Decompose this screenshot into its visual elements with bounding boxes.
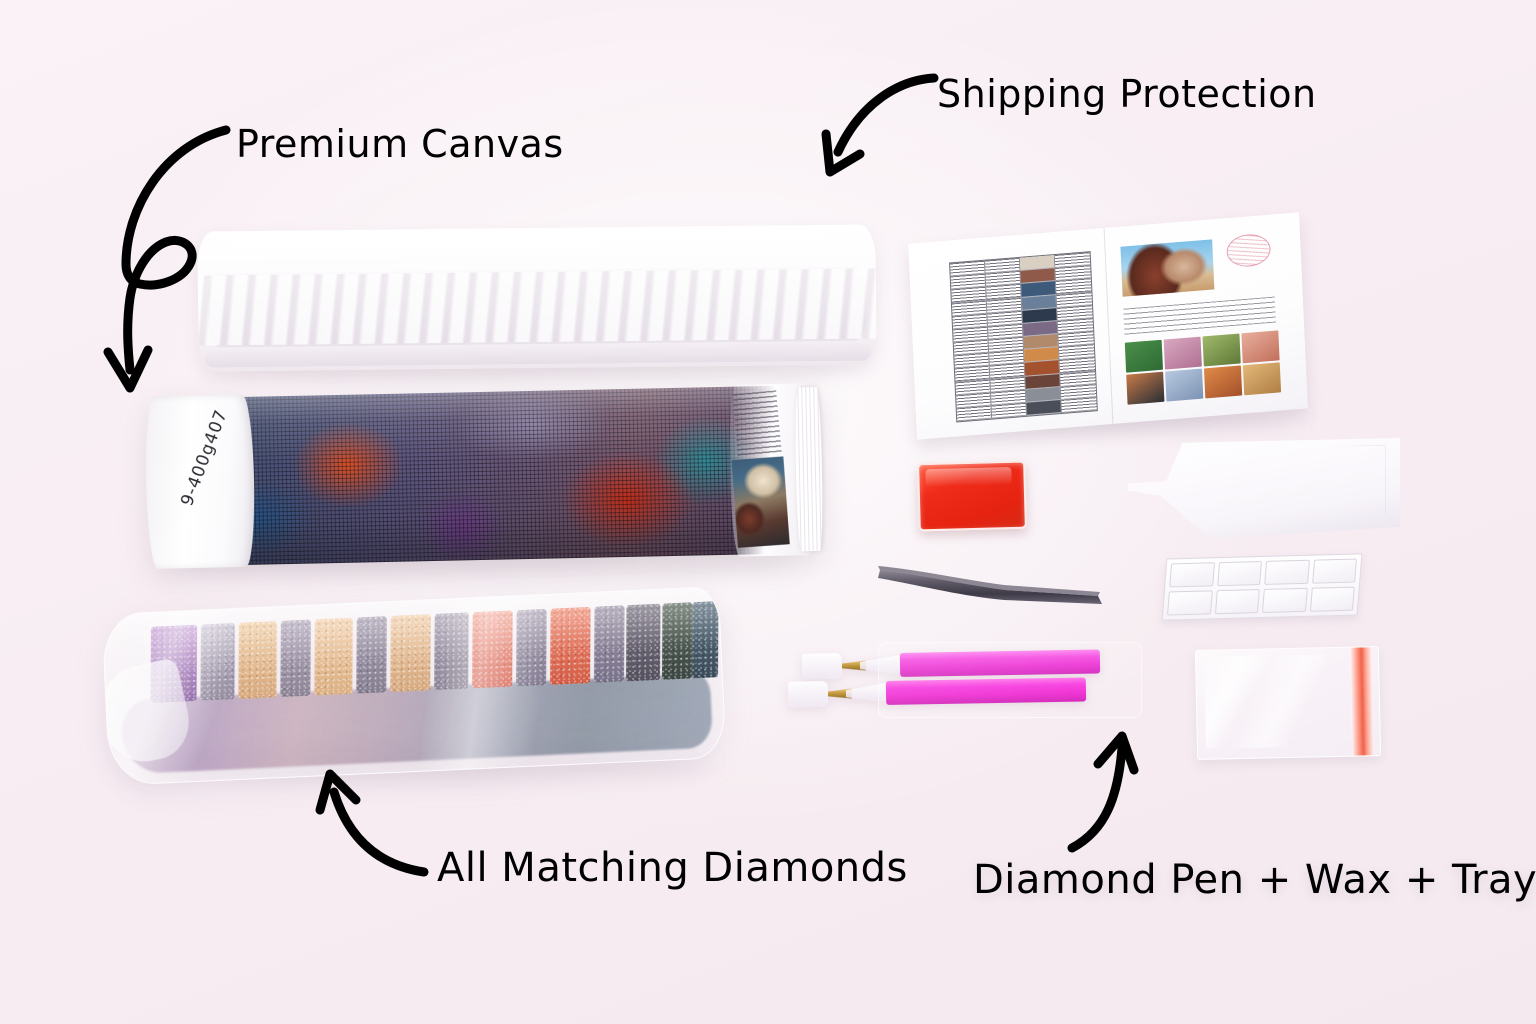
diamond-packet bbox=[516, 609, 547, 686]
premium-canvas-label: Premium Canvas bbox=[236, 122, 564, 166]
diamond-pens bbox=[826, 648, 1132, 726]
diamond-packet bbox=[692, 601, 719, 678]
ziplock-seal-strip bbox=[1350, 647, 1374, 755]
foam-protective-sleeve bbox=[197, 224, 876, 371]
ziplock-crease bbox=[1204, 654, 1326, 748]
glue-cell bbox=[1214, 589, 1259, 614]
sheet-hero-photo bbox=[1120, 239, 1214, 296]
canvas-roll-label: 9-400g407 bbox=[144, 395, 256, 569]
foam-sleeve-ripples bbox=[198, 268, 877, 345]
sheet-stamp-icon bbox=[1226, 233, 1271, 269]
sheet-fold-line bbox=[1104, 228, 1114, 424]
pen-cap-end bbox=[788, 681, 828, 708]
glue-cell bbox=[1264, 560, 1309, 585]
diamond-packet bbox=[200, 623, 234, 701]
sheet-thumbnail bbox=[1204, 365, 1242, 398]
scene-canvas: 9-400g407 bbox=[0, 0, 1536, 1024]
diamond-packet bbox=[550, 607, 590, 685]
diamond-packet bbox=[594, 605, 625, 682]
instruction-sheet bbox=[908, 212, 1308, 439]
diamond-packet bbox=[390, 614, 430, 692]
diamond-drill-bag bbox=[101, 586, 726, 786]
sheet-thumbnail bbox=[1165, 369, 1203, 402]
diamond-packet bbox=[472, 610, 512, 688]
all-matching-diamonds-label: All Matching Diamonds bbox=[437, 845, 908, 891]
pen-cap-end bbox=[802, 653, 842, 680]
sheet-thumbnail bbox=[1243, 362, 1281, 395]
sheet-thumbnail bbox=[1203, 333, 1241, 366]
diamond-tray bbox=[1128, 438, 1400, 558]
diamond-packet bbox=[626, 604, 660, 682]
rolled-canvas: 9-400g407 bbox=[148, 385, 813, 567]
diamond-packet bbox=[662, 602, 693, 679]
wax-highlight bbox=[925, 467, 1011, 487]
diamond-packet bbox=[238, 621, 276, 699]
glue-cell bbox=[1167, 590, 1212, 615]
glue-sticker-sheet bbox=[1162, 553, 1363, 620]
glue-cell bbox=[1312, 559, 1357, 584]
sheet-thumbnail bbox=[1126, 372, 1164, 405]
diamond-packet bbox=[314, 618, 352, 696]
sheet-thumbnail bbox=[1125, 340, 1163, 373]
canvas-paper-edge bbox=[794, 387, 823, 552]
color-chart-table bbox=[949, 251, 1098, 422]
diamond-packet bbox=[356, 616, 387, 693]
ziplock-bag bbox=[1195, 646, 1381, 760]
glue-cell bbox=[1309, 587, 1354, 612]
chart-column-qty bbox=[1055, 252, 1097, 413]
sheet-thumbnail bbox=[1164, 337, 1202, 370]
shipping-protection-label: Shipping Protection bbox=[937, 72, 1317, 116]
canvas-spec-text bbox=[732, 390, 781, 456]
pen-barrel bbox=[900, 649, 1100, 676]
red-wax-block bbox=[917, 461, 1027, 532]
diamond-pen-wax-tray-label: Diamond Pen + Wax + Tray bbox=[973, 857, 1536, 881]
canvas-label-code: 9-400g407 bbox=[172, 395, 237, 522]
diamond-packet bbox=[434, 612, 468, 690]
glue-cell bbox=[1169, 562, 1214, 587]
sheet-thumbnail bbox=[1241, 330, 1279, 363]
pen-barrel bbox=[886, 677, 1086, 704]
foam-sleeve-highlight bbox=[227, 231, 827, 267]
tweezers bbox=[876, 552, 1112, 614]
sheet-thumbnail-grid bbox=[1125, 330, 1281, 404]
glue-cell bbox=[1262, 588, 1307, 613]
diamond-packet bbox=[280, 620, 311, 697]
diamond-bag-plastic bbox=[101, 586, 726, 786]
glue-cell bbox=[1217, 561, 1262, 586]
canvas-reference-thumbnail bbox=[731, 456, 789, 548]
sheet-instruction-text bbox=[1123, 297, 1276, 335]
